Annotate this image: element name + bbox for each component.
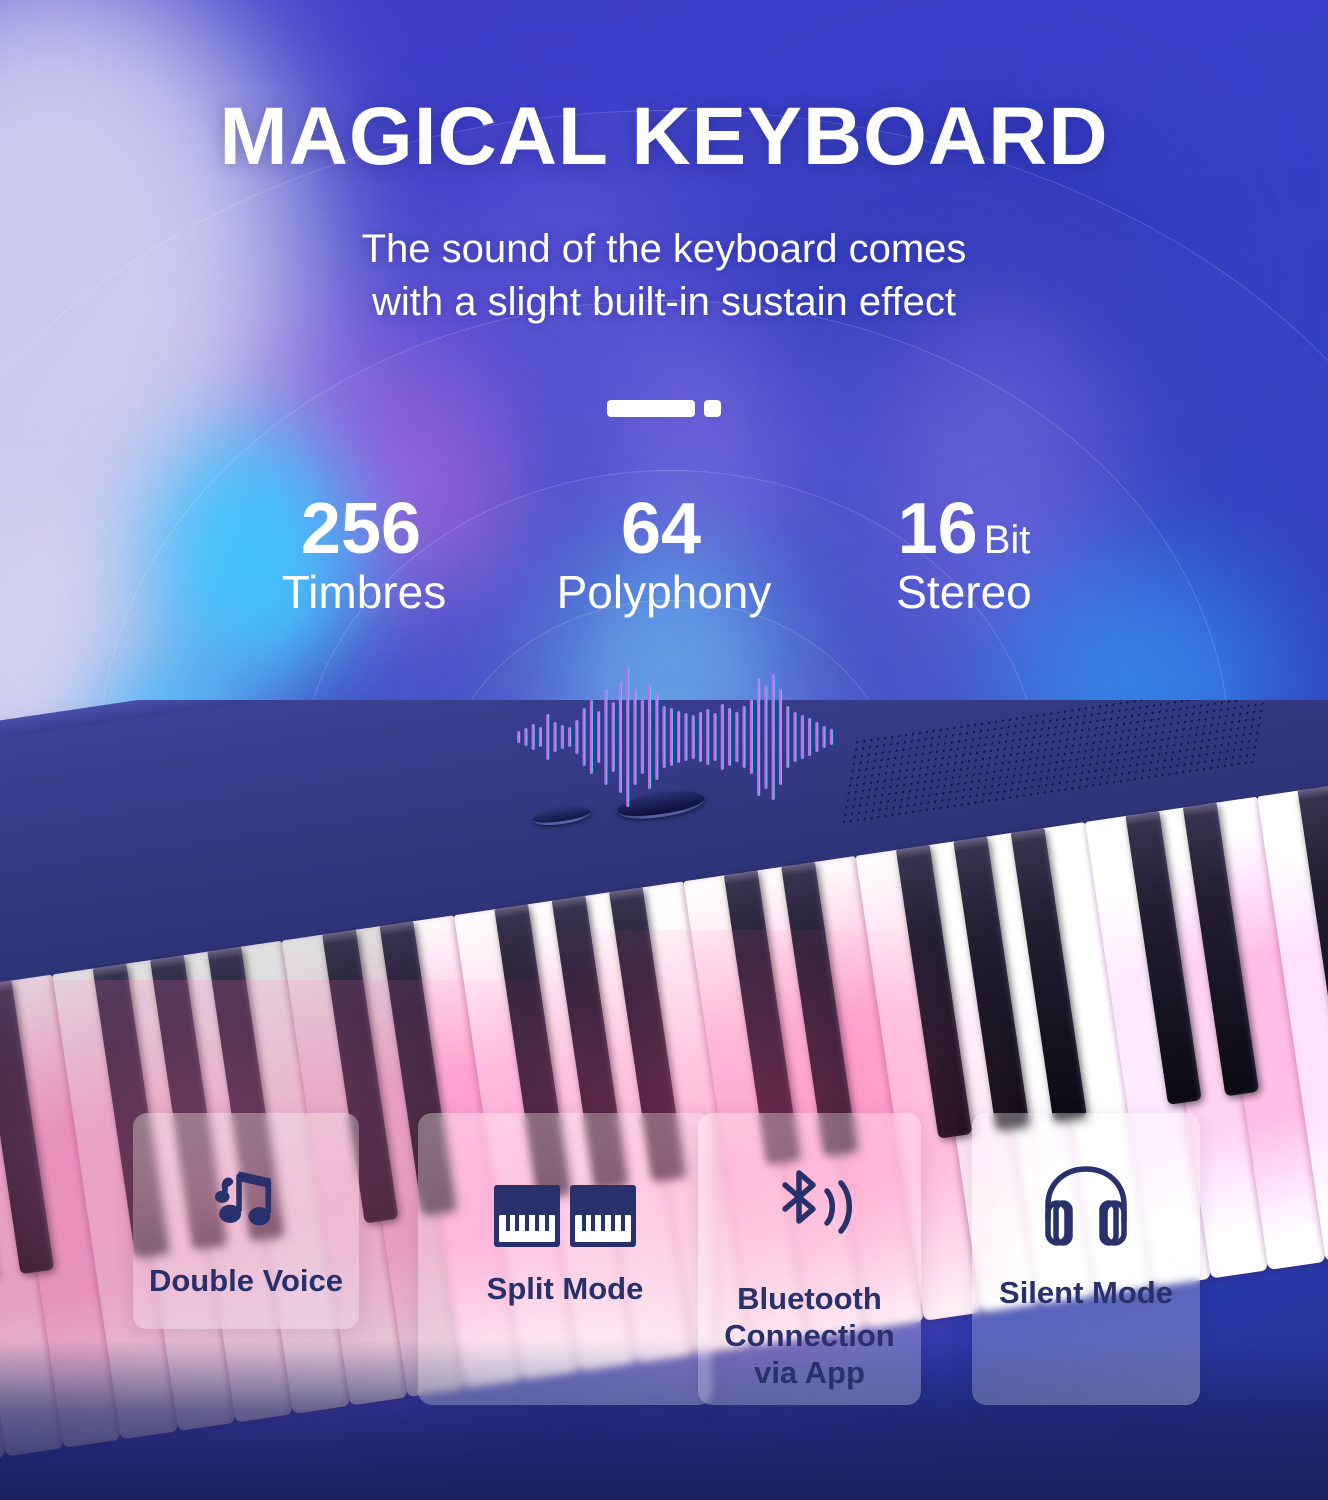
audio-waveform-icon [515,665,835,810]
subtitle-line-1: The sound of the keyboard comes [0,223,1328,276]
spec-item-polyphony: 64 Polyphony [514,495,814,618]
headphones-icon [1031,1159,1141,1260]
divider-bar [607,400,695,417]
spec-list: 256 Timbres 64 Polyphony 16 Bit Stereo [0,495,1328,618]
spec-number: 16 [898,495,978,563]
spec-value-row: 64 [514,495,814,563]
bluetooth-label-line-1: Bluetooth [737,1281,882,1316]
spec-item-stereo: 16 Bit Stereo [814,495,1114,618]
feature-card-label: Split Mode [479,1270,652,1307]
spec-label: Polyphony [514,567,814,618]
feature-card-bluetooth[interactable]: Bluetooth Connection via App [698,1113,921,1405]
feature-card-label: Silent Mode [991,1274,1181,1311]
bluetooth-label-line-3: via App [754,1355,865,1390]
page-subtitle: The sound of the keyboard comes with a s… [0,223,1328,329]
piano-split-icon [494,1185,636,1252]
feature-card-silent-mode[interactable]: Silent Mode [972,1113,1200,1405]
spec-number: 256 [301,495,421,563]
spec-value-row: 256 [214,495,514,563]
spec-number: 64 [621,495,701,563]
spec-unit: Bit [984,518,1031,563]
spec-item-timbres: 256 Timbres [214,495,514,618]
feature-card-double-voice[interactable]: Double Voice [133,1113,359,1329]
spec-label: Timbres [214,567,514,618]
music-note-icon [207,1159,285,1242]
bluetooth-label-line-2: Connection [724,1318,895,1353]
feature-card-label: Double Voice [141,1262,351,1299]
spec-label: Stereo [814,567,1114,618]
bluetooth-icon [755,1163,865,1256]
subtitle-line-2: with a slight built-in sustain effect [0,276,1328,329]
divider-dot [704,400,721,417]
spec-value-row: 16 Bit [814,495,1114,563]
product-feature-banner: MAGICAL KEYBOARD The sound of the keyboa… [0,0,1328,1500]
feature-card-split-mode[interactable]: Split Mode [418,1113,712,1405]
page-title: MAGICAL KEYBOARD [0,96,1328,178]
feature-card-label: Bluetooth Connection via App [716,1280,903,1392]
divider-dash-dot-icon [0,400,1328,417]
